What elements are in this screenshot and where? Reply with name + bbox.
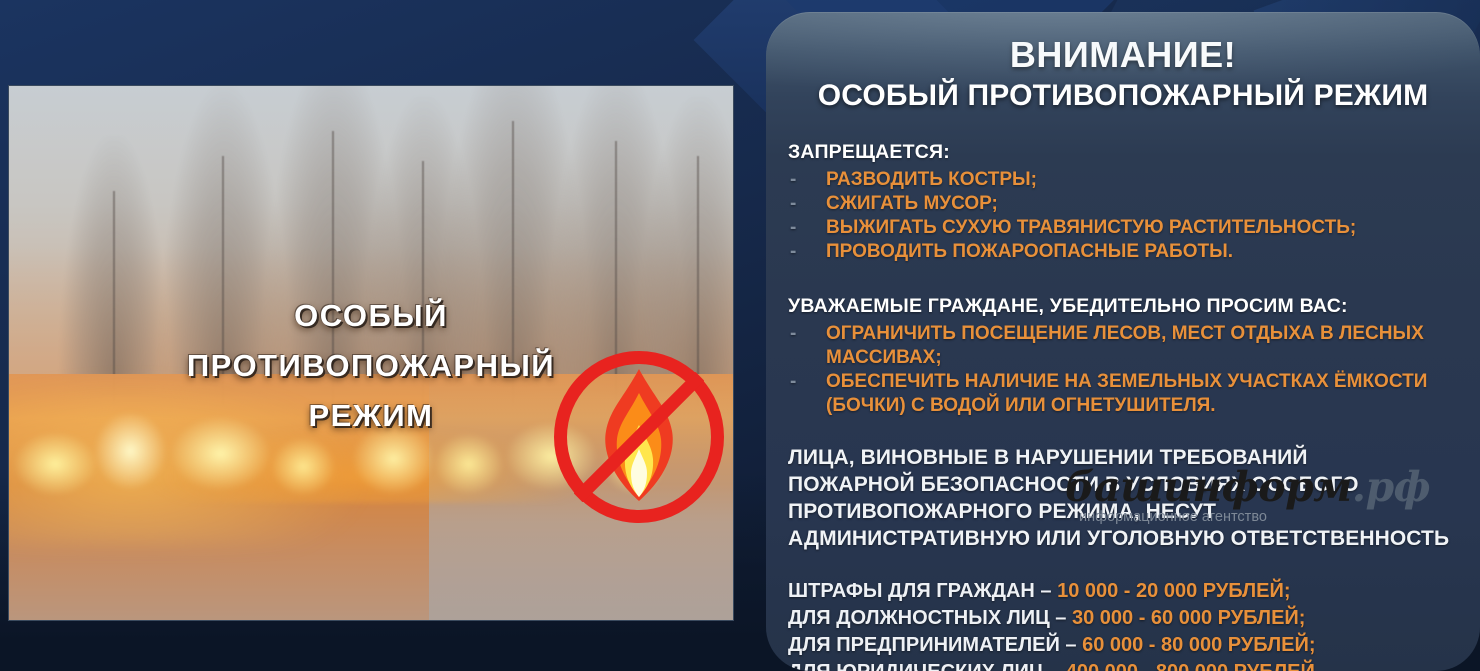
fine-label: ШТРАФЫ ДЛЯ ГРАЖДАН –: [788, 580, 1057, 602]
list-marker: -: [790, 370, 796, 394]
panel-title: ВНИМАНИЕ!: [766, 12, 1480, 76]
fine-amount: 60 000 - 80 000 РУБЛЕЙ;: [1082, 634, 1315, 656]
list-marker: -: [790, 240, 796, 264]
liability-paragraph: ЛИЦА, ВИНОВНЫЕ В НАРУШЕНИИ ТРЕБОВАНИЙ ПО…: [788, 444, 1470, 552]
list-item: - ОБЕСПЕЧИТЬ НАЛИЧИЕ НА ЗЕМЕЛЬНЫХ УЧАСТК…: [788, 370, 1470, 418]
no-fire-sign: [554, 351, 724, 523]
list-item-label: ОГРАНИЧИТЬ ПОСЕЩЕНИЕ ЛЕСОВ, МЕСТ ОТДЫХА …: [826, 323, 1424, 368]
spacer: [788, 264, 1470, 294]
list-item: - ОГРАНИЧИТЬ ПОСЕЩЕНИЕ ЛЕСОВ, МЕСТ ОТДЫХ…: [788, 322, 1470, 370]
spacer: [788, 418, 1470, 444]
list-item-label: ОБЕСПЕЧИТЬ НАЛИЧИЕ НА ЗЕМЕЛЬНЫХ УЧАСТКАХ…: [826, 371, 1427, 416]
fine-label: ДЛЯ ПРЕДПРИНИМАТЕЛЕЙ –: [788, 634, 1082, 656]
liability-line-3: ПРОТИВОПОЖАРНОГО РЕЖИМА, НЕСУТ: [788, 498, 1470, 525]
fire-safety-poster: ОСОБЫЙ ПРОТИВОПОЖАРНЫЙ РЕЖИМ ВНИМАНИЕ! О…: [0, 0, 1480, 671]
request-heading: УВАЖАЕМЫЕ ГРАЖДАНЕ, УБЕДИТЕЛЬНО ПРОСИМ В…: [788, 294, 1470, 318]
liability-line-2: ПОЖАРНОЙ БЕЗОПАСНОСТИ В УСЛОВИЯХ ОСОБОГО: [788, 471, 1470, 498]
fine-label: ДЛЯ ДОЛЖНОСТНЫХ ЛИЦ –: [788, 607, 1072, 629]
list-marker: -: [790, 216, 796, 240]
list-item-label: РАЗВОДИТЬ КОСТРЫ;: [826, 169, 1037, 190]
list-item-label: ПРОВОДИТЬ ПОЖАРООПАСНЫЕ РАБОТЫ.: [826, 241, 1233, 262]
information-panel: ВНИМАНИЕ! ОСОБЫЙ ПРОТИВОПОЖАРНЫЙ РЕЖИМ З…: [766, 12, 1480, 671]
list-item: - СЖИГАТЬ МУСОР;: [788, 192, 1470, 216]
panel-body: ЗАПРЕЩАЕТСЯ: - РАЗВОДИТЬ КОСТРЫ; - СЖИГА…: [766, 114, 1480, 671]
liability-line-4: АДМИНИСТРАТИВНУЮ ИЛИ УГОЛОВНУЮ ОТВЕТСТВЕ…: [788, 525, 1470, 552]
fine-amount: 400 000 - 800 000 РУБЛЕЙ.: [1066, 661, 1321, 671]
fine-label: ДЛЯ ЮРИДИЧЕСКИХ ЛИЦ –: [788, 661, 1066, 671]
fine-row: ДЛЯ ПРЕДПРИНИМАТЕЛЕЙ – 60 000 - 80 000 Р…: [788, 632, 1470, 659]
wildfire-photo: ОСОБЫЙ ПРОТИВОПОЖАРНЫЙ РЕЖИМ: [8, 85, 734, 621]
list-marker: -: [790, 168, 796, 192]
fine-row: ДЛЯ ДОЛЖНОСТНЫХ ЛИЦ – 30 000 - 60 000 РУ…: [788, 605, 1470, 632]
prohibited-heading: ЗАПРЕЩАЕТСЯ:: [788, 140, 1470, 164]
list-marker: -: [790, 192, 796, 216]
liability-line-1: ЛИЦА, ВИНОВНЫЕ В НАРУШЕНИИ ТРЕБОВАНИЙ: [788, 444, 1470, 471]
fine-amount: 30 000 - 60 000 РУБЛЕЙ;: [1072, 607, 1305, 629]
prohibited-list: - РАЗВОДИТЬ КОСТРЫ; - СЖИГАТЬ МУСОР; - В…: [788, 168, 1470, 264]
list-item: - ПРОВОДИТЬ ПОЖАРООПАСНЫЕ РАБОТЫ.: [788, 240, 1470, 264]
photo-caption-line-1: ОСОБЫЙ: [9, 291, 733, 341]
panel-subtitle: ОСОБЫЙ ПРОТИВОПОЖАРНЫЙ РЕЖИМ: [766, 76, 1480, 114]
fine-row: ШТРАФЫ ДЛЯ ГРАЖДАН – 10 000 - 20 000 РУБ…: [788, 578, 1470, 605]
fine-row: ДЛЯ ЮРИДИЧЕСКИХ ЛИЦ – 400 000 - 800 000 …: [788, 659, 1470, 671]
fine-amount: 10 000 - 20 000 РУБЛЕЙ;: [1057, 580, 1290, 602]
request-list: - ОГРАНИЧИТЬ ПОСЕЩЕНИЕ ЛЕСОВ, МЕСТ ОТДЫХ…: [788, 322, 1470, 418]
spacer: [788, 552, 1470, 578]
list-item-label: СЖИГАТЬ МУСОР;: [826, 193, 998, 214]
list-item: - РАЗВОДИТЬ КОСТРЫ;: [788, 168, 1470, 192]
fines-list: ШТРАФЫ ДЛЯ ГРАЖДАН – 10 000 - 20 000 РУБ…: [788, 578, 1470, 671]
list-item-label: ВЫЖИГАТЬ СУХУЮ ТРАВЯНИСТУЮ РАСТИТЕЛЬНОСТ…: [826, 217, 1356, 238]
list-item: - ВЫЖИГАТЬ СУХУЮ ТРАВЯНИСТУЮ РАСТИТЕЛЬНО…: [788, 216, 1470, 240]
list-marker: -: [790, 322, 796, 346]
